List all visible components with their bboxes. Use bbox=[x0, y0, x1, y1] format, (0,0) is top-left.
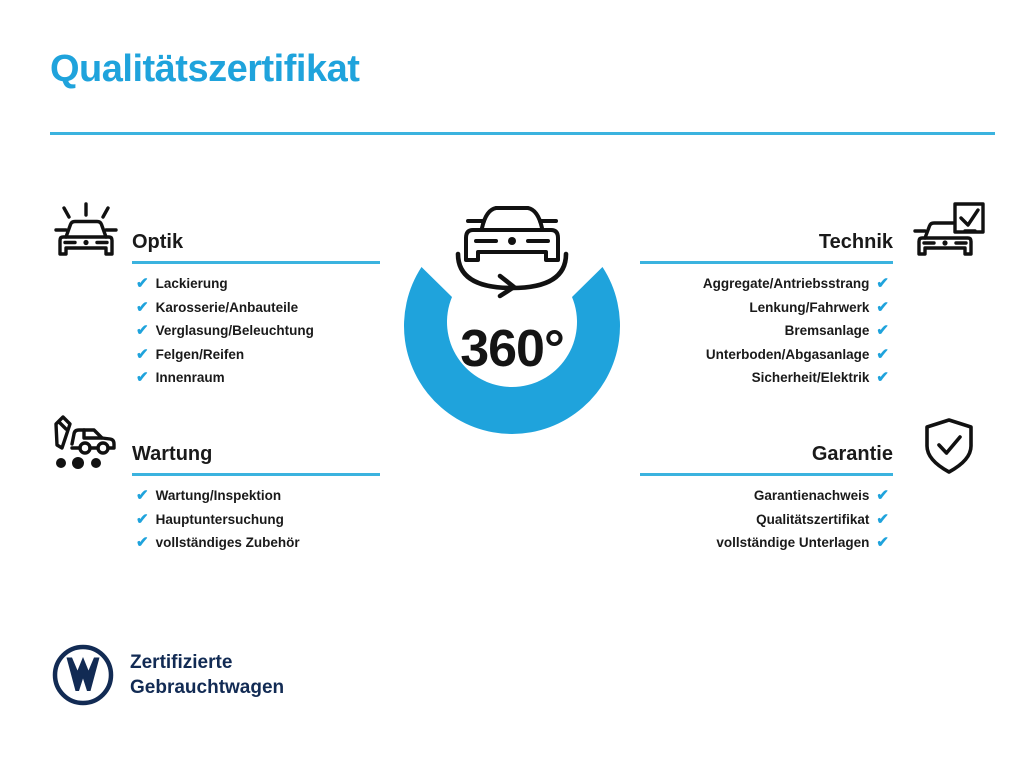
footer-brand-text: Zertifizierte Gebrauchtwagen bbox=[130, 650, 284, 700]
list-item-label: Felgen/Reifen bbox=[156, 343, 245, 367]
list-item-label: Lenkung/Fahrwerk bbox=[749, 296, 869, 320]
section-wartung-title: Wartung bbox=[132, 443, 212, 466]
list-item: ✔Innenraum bbox=[50, 366, 380, 390]
section-technik-list: Aggregate/Antriebsstrang✔ Lenkung/Fahrwe… bbox=[640, 272, 985, 390]
section-wartung-header: Wartung bbox=[50, 412, 380, 484]
check-icon: ✔ bbox=[136, 347, 149, 362]
list-item-label: Unterboden/Abgasanlage bbox=[706, 343, 870, 367]
section-garantie: Garantie Garantienachweis✔ Qualitätszert… bbox=[640, 412, 985, 555]
check-icon: ✔ bbox=[136, 323, 149, 338]
footer-brand: Zertifizierte Gebrauchtwagen bbox=[52, 644, 284, 706]
list-item: Qualitätszertifikat✔ bbox=[640, 508, 985, 532]
section-garantie-list: Garantienachweis✔ Qualitätszertifikat✔ v… bbox=[640, 484, 985, 555]
page-title: Qualitätszertifikat bbox=[50, 48, 359, 91]
section-garantie-header: Garantie bbox=[640, 412, 985, 484]
section-optik: Optik ✔Lackierung ✔Karosserie/Anbauteile… bbox=[50, 200, 380, 390]
list-item-label: Lackierung bbox=[156, 272, 228, 296]
car-rotate-360-icon bbox=[458, 208, 566, 296]
list-item: ✔Wartung/Inspektion bbox=[50, 484, 380, 508]
list-item-label: Qualitätszertifikat bbox=[756, 508, 869, 532]
section-optik-list: ✔Lackierung ✔Karosserie/Anbauteile ✔Verg… bbox=[50, 272, 380, 390]
list-item-label: Innenraum bbox=[156, 366, 225, 390]
section-optik-underline bbox=[132, 261, 380, 264]
section-technik-title: Technik bbox=[819, 231, 893, 254]
list-item-label: Garantienachweis bbox=[754, 484, 870, 508]
check-icon: ✔ bbox=[876, 276, 889, 291]
list-item: ✔vollständiges Zubehör bbox=[50, 531, 380, 555]
list-item: Bremsanlage✔ bbox=[640, 319, 985, 343]
check-icon: ✔ bbox=[876, 512, 889, 527]
list-item-label: Aggregate/Antriebsstrang bbox=[703, 272, 870, 296]
list-item: Unterboden/Abgasanlage✔ bbox=[640, 343, 985, 367]
footer-brand-line1: Zertifizierte bbox=[130, 652, 232, 673]
badge-360-gebrauchtwagen-check: Gebrauchtwagen-Check 360° bbox=[372, 192, 652, 488]
check-icon: ✔ bbox=[136, 512, 149, 527]
section-optik-title: Optik bbox=[132, 231, 183, 254]
section-garantie-title: Garantie bbox=[812, 443, 893, 466]
check-icon: ✔ bbox=[136, 370, 149, 385]
list-item-label: Bremsanlage bbox=[785, 319, 870, 343]
section-technik: Technik Aggregate/Antriebsstrang✔ Lenkun… bbox=[640, 200, 985, 390]
list-item-label: Verglasung/Beleuchtung bbox=[156, 319, 314, 343]
shield-check-icon bbox=[913, 414, 985, 480]
section-wartung-underline bbox=[132, 473, 380, 476]
section-technik-underline bbox=[640, 261, 893, 264]
section-technik-header: Technik bbox=[640, 200, 985, 272]
check-icon: ✔ bbox=[876, 300, 889, 315]
check-icon: ✔ bbox=[876, 323, 889, 338]
check-icon: ✔ bbox=[876, 370, 889, 385]
list-item: ✔Lackierung bbox=[50, 272, 380, 296]
check-icon: ✔ bbox=[136, 276, 149, 291]
list-item-label: Sicherheit/Elektrik bbox=[752, 366, 870, 390]
list-item: ✔Hauptuntersuchung bbox=[50, 508, 380, 532]
car-checkbox-icon bbox=[913, 202, 985, 268]
list-item: Garantienachweis✔ bbox=[640, 484, 985, 508]
badge-graphic: Gebrauchtwagen-Check bbox=[372, 192, 652, 488]
list-item-label: Wartung/Inspektion bbox=[156, 484, 282, 508]
list-item: Sicherheit/Elektrik✔ bbox=[640, 366, 985, 390]
list-item: ✔Verglasung/Beleuchtung bbox=[50, 319, 380, 343]
list-item-label: Hauptuntersuchung bbox=[156, 508, 284, 532]
list-item-label: Karosserie/Anbauteile bbox=[156, 296, 299, 320]
section-optik-header: Optik bbox=[50, 200, 380, 272]
check-icon: ✔ bbox=[876, 535, 889, 550]
car-shine-icon bbox=[50, 202, 122, 268]
footer-brand-line2: Gebrauchtwagen bbox=[130, 677, 284, 698]
list-item: ✔Felgen/Reifen bbox=[50, 343, 380, 367]
check-icon: ✔ bbox=[136, 535, 149, 550]
list-item: vollständige Unterlagen✔ bbox=[640, 531, 985, 555]
section-garantie-underline bbox=[640, 473, 893, 476]
check-icon: ✔ bbox=[136, 300, 149, 315]
car-service-dipstick-icon bbox=[50, 414, 122, 480]
check-icon: ✔ bbox=[876, 488, 889, 503]
list-item-label: vollständiges Zubehör bbox=[156, 531, 300, 555]
check-icon: ✔ bbox=[136, 488, 149, 503]
list-item-label: vollständige Unterlagen bbox=[716, 531, 869, 555]
list-item: ✔Karosserie/Anbauteile bbox=[50, 296, 380, 320]
volkswagen-logo-icon bbox=[52, 644, 114, 706]
header-divider bbox=[50, 132, 995, 135]
section-wartung-list: ✔Wartung/Inspektion ✔Hauptuntersuchung ✔… bbox=[50, 484, 380, 555]
list-item: Aggregate/Antriebsstrang✔ bbox=[640, 272, 985, 296]
list-item: Lenkung/Fahrwerk✔ bbox=[640, 296, 985, 320]
check-icon: ✔ bbox=[876, 347, 889, 362]
section-wartung: Wartung ✔Wartung/Inspektion ✔Hauptunters… bbox=[50, 412, 380, 555]
